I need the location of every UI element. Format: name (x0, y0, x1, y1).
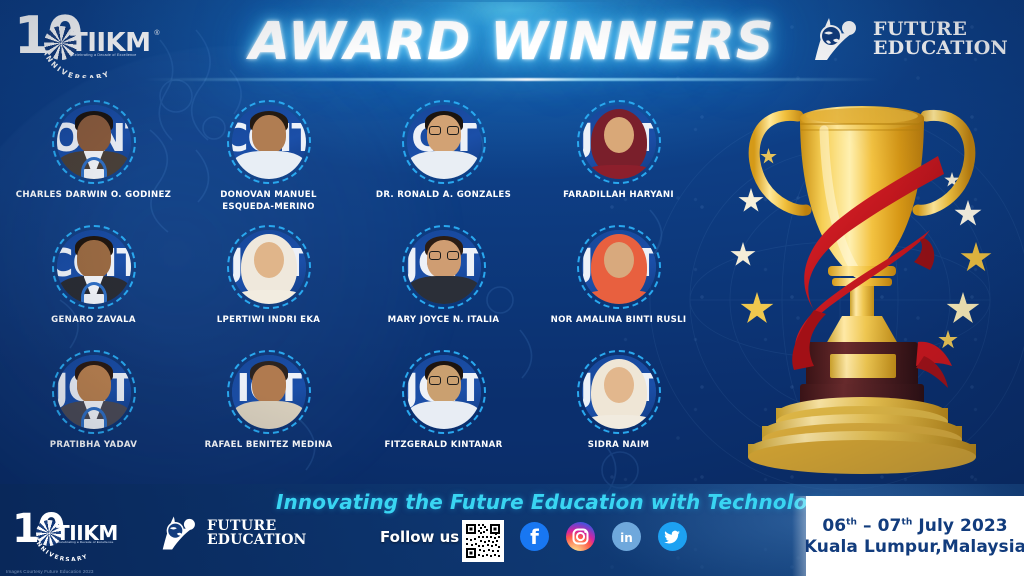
avatar-photo (57, 355, 131, 429)
footer-anniversary-arc: ANNIVERSARY (30, 531, 108, 561)
winner-name: LPERTIWI INDRI EKA (185, 315, 353, 327)
avatar (402, 350, 486, 434)
winner-card: FARADILLAH HARYANI (531, 100, 706, 225)
twitter-icon[interactable] (658, 522, 687, 551)
person-name-badge (84, 294, 104, 304)
avatar (52, 225, 136, 309)
person-body (582, 165, 656, 179)
person-face (252, 115, 286, 153)
avatar (577, 225, 661, 309)
event-tagline: Innovating the Future Education with Tec… (276, 490, 835, 514)
person-face (77, 240, 111, 278)
winner-name: NOR AMALINA BINTI RUSLI (535, 315, 703, 327)
avatar-photo (582, 230, 656, 304)
winner-card: FITZGERALD KINTANAR (356, 350, 531, 475)
person-name-badge (84, 169, 104, 179)
winner-card: LPERTIWI INDRI EKA (181, 225, 356, 350)
person-body (232, 401, 306, 429)
future-education-line2: EDUCATION (873, 39, 1008, 58)
winner-name: SIDRA NAIM (535, 440, 703, 452)
avatar-photo (407, 355, 481, 429)
avatar-photo (582, 355, 656, 429)
avatar-photo (232, 230, 306, 304)
svg-text:ANNIVERSARY: ANNIVERSARY (32, 536, 90, 561)
event-date: 06th – 07th July 2023 (822, 516, 1007, 536)
footer-tiikm-logo: 10 TIIKM Celebrating a Decade of Excelle… (12, 510, 144, 556)
image-credit: Images Courtesy Future Education 2023 (6, 569, 94, 574)
avatar-photo (232, 105, 306, 179)
person-body (407, 151, 481, 179)
qr-code[interactable] (462, 520, 504, 562)
avatar-photo (232, 355, 306, 429)
avatar (227, 100, 311, 184)
facebook-icon[interactable]: f (520, 522, 549, 551)
winner-name: RAFAEL BENITEZ MEDINA (185, 440, 353, 452)
winner-name: FITZGERALD KINTANAR (360, 440, 528, 452)
winner-name: GENARO ZAVALA (10, 315, 178, 327)
winners-grid: CHARLES DARWIN O. GODINEZDONOVAN MANUELE… (6, 100, 706, 475)
person-body (582, 415, 656, 429)
avatar-photo (57, 230, 131, 304)
avatar (227, 350, 311, 434)
person-face (604, 242, 634, 278)
winner-name: DR. RONALD A. GONZALES (360, 190, 528, 202)
footer-future-education-line2: EDUCATION (207, 533, 306, 547)
winner-name: DONOVAN MANUELESQUEDA-MERINO (185, 190, 353, 213)
person-glasses (429, 376, 459, 385)
person-face (254, 242, 284, 278)
winner-card: NOR AMALINA BINTI RUSLI (531, 225, 706, 350)
page-title: AWARD WINNERS (250, 12, 775, 72)
footer-logos: 10 TIIKM Celebrating a Decade of Excelle… (12, 510, 306, 556)
person-body (582, 290, 656, 304)
winner-card: DR. RONALD A. GONZALES (356, 100, 531, 225)
winner-card: DONOVAN MANUELESQUEDA-MERINO (181, 100, 356, 225)
trophy-svg (702, 70, 1022, 490)
person-name-badge (84, 419, 104, 429)
person-face (77, 115, 111, 153)
person-body (407, 276, 481, 304)
avatar (577, 100, 661, 184)
avatar (52, 100, 136, 184)
avatar (402, 225, 486, 309)
winner-name: PRATIBHA YADAV (10, 440, 178, 452)
person-body (232, 290, 306, 304)
instagram-icon[interactable] (566, 522, 595, 551)
winner-card: SIDRA NAIM (531, 350, 706, 475)
person-body (232, 151, 306, 179)
winner-card: RAFAEL BENITEZ MEDINA (181, 350, 356, 475)
footer-content: 10 TIIKM Celebrating a Decade of Excelle… (0, 484, 1024, 576)
person-face (77, 365, 111, 403)
winner-name: CHARLES DARWIN O. GODINEZ (10, 190, 178, 202)
person-face (252, 365, 286, 403)
future-education-logo: FUTURE EDUCATION (809, 14, 1008, 64)
footer-future-education-mark-icon (158, 513, 202, 553)
avatar (52, 350, 136, 434)
svg-text:f: f (530, 525, 539, 549)
event-date-box: 06th – 07th July 2023 Kuala Lumpur,Malay… (806, 496, 1024, 576)
social-links: f in (520, 522, 687, 551)
avatar (227, 225, 311, 309)
winner-card: PRATIBHA YADAV (6, 350, 181, 475)
avatar-photo (407, 230, 481, 304)
avatar-photo (582, 105, 656, 179)
footer-band: 10 TIIKM Celebrating a Decade of Excelle… (0, 484, 1024, 576)
footer-future-education-logo: FUTURE EDUCATION (158, 513, 306, 553)
person-glasses (429, 126, 459, 135)
footer-future-education-text: FUTURE EDUCATION (207, 519, 306, 547)
person-glasses (429, 251, 459, 260)
event-location: Kuala Lumpur,Malaysia (804, 537, 1024, 557)
svg-text:in: in (620, 531, 633, 545)
footer-future-education-line1: FUTURE (207, 519, 306, 533)
award-winners-poster: 10 TIIKM ® Celebrating a Decade of Excel… (0, 0, 1024, 576)
winner-name: MARY JOYCE N. ITALIA (360, 315, 528, 327)
follow-us-label: Follow us (380, 528, 459, 546)
future-education-mark-icon (809, 14, 865, 64)
person-body (407, 401, 481, 429)
person-face (604, 117, 634, 153)
avatar (402, 100, 486, 184)
avatar-photo (407, 105, 481, 179)
future-education-text: FUTURE EDUCATION (873, 20, 1008, 58)
winner-card: CHARLES DARWIN O. GODINEZ (6, 100, 181, 225)
linkedin-icon[interactable]: in (612, 522, 641, 551)
winner-card: MARY JOYCE N. ITALIA (356, 225, 531, 350)
winner-card: GENARO ZAVALA (6, 225, 181, 350)
trophy-illustration (702, 70, 1022, 490)
winner-name: FARADILLAH HARYANI (535, 190, 703, 202)
person-face (604, 367, 634, 403)
avatar (577, 350, 661, 434)
avatar-photo (57, 105, 131, 179)
